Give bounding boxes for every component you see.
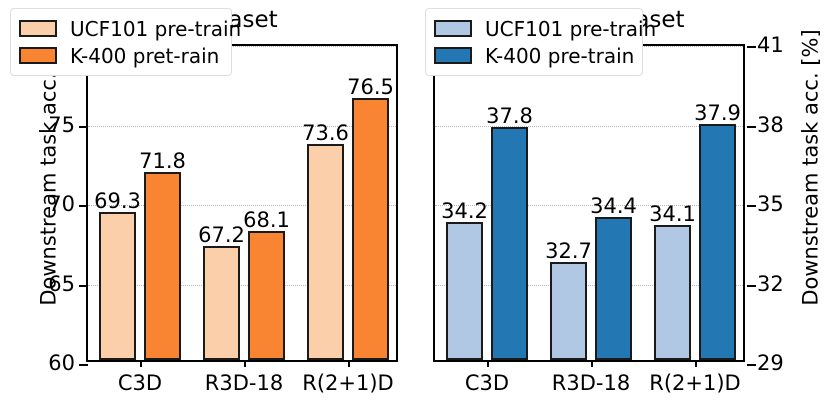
bar-value-label: 32.7 (540, 240, 597, 263)
bar-value-label: 37.8 (481, 105, 538, 128)
legend-swatch-icon (19, 20, 57, 37)
bar[interactable] (654, 225, 691, 360)
y-axis-tick-label: 38 (757, 115, 784, 136)
x-axis-tick-label: R(2+1)D (302, 371, 393, 395)
legend-label: UCF101 pre-train (70, 19, 241, 39)
y-axis-tick (747, 205, 756, 207)
chart-panel-ucf101: UCF101 dataset 6065707580C3D69.371.8R3D-… (0, 0, 415, 413)
bar[interactable] (248, 231, 285, 360)
y-axis-tick-label: 29 (757, 353, 784, 374)
y-axis-tick (747, 285, 756, 287)
plot-area-left: 6065707580C3D69.371.8R3D-1867.268.1R(2+1… (88, 46, 396, 360)
x-axis-tick-label: R(2+1)D (649, 371, 740, 395)
legend-swatch-icon (434, 47, 472, 64)
bar-value-label: 37.9 (689, 102, 746, 125)
bar-value-label: 76.5 (342, 76, 399, 99)
bar[interactable] (446, 222, 483, 360)
bar[interactable] (203, 246, 240, 360)
y-axis-tick (747, 364, 756, 366)
x-axis-tick (695, 360, 697, 367)
bar[interactable] (144, 172, 181, 360)
bar-value-label: 68.1 (238, 209, 295, 232)
bar-value-label: 34.4 (585, 195, 642, 218)
legend-item[interactable]: K-400 pre-train (434, 42, 633, 69)
y-axis-tick (747, 126, 756, 128)
x-axis-tick-label: C3D (118, 371, 162, 395)
legend-left: UCF101 pre-trainK-400 pret-rain (10, 8, 232, 76)
x-axis-tick-label: C3D (465, 371, 509, 395)
bar[interactable] (550, 262, 587, 360)
legend-label: UCF101 pre-train (485, 19, 656, 39)
y-axis-tick (79, 205, 88, 207)
y-axis-tick (79, 364, 88, 366)
plot-area-right: 2932353841C3D34.237.8R3D-1832.734.4R(2+1… (435, 46, 743, 360)
bar-value-label: 34.2 (436, 200, 493, 223)
y-axis-tick-label: 32 (757, 274, 784, 295)
x-axis-tick-label: R3D-18 (552, 371, 630, 395)
bar[interactable] (699, 124, 736, 360)
legend-item[interactable]: UCF101 pre-train (19, 15, 222, 42)
bar[interactable] (595, 217, 632, 360)
x-axis-tick (244, 360, 246, 367)
x-axis-tick (591, 360, 593, 367)
legend-label: K-400 pret-rain (70, 46, 219, 66)
legend-label: K-400 pre-train (485, 46, 634, 66)
bar[interactable] (491, 127, 528, 360)
figure-root: UCF101 dataset 6065707580C3D69.371.8R3D-… (0, 0, 830, 413)
x-axis-tick-label: R3D-18 (205, 371, 283, 395)
plot-axes-right: 2932353841C3D34.237.8R3D-1832.734.4R(2+1… (433, 44, 745, 362)
bar-value-label: 71.8 (134, 150, 191, 173)
plot-axes-left: 6065707580C3D69.371.8R3D-1867.268.1R(2+1… (86, 44, 398, 362)
bar-value-label: 34.1 (644, 203, 701, 226)
bar[interactable] (352, 98, 389, 360)
y-axis-tick-label: 41 (757, 35, 784, 56)
y-axis-label-right: Downstream task acc. [%] (801, 18, 822, 318)
legend-item[interactable]: UCF101 pre-train (434, 15, 633, 42)
x-axis-tick (487, 360, 489, 367)
x-axis-tick (348, 360, 350, 367)
y-axis-tick (79, 285, 88, 287)
bar[interactable] (99, 212, 136, 360)
legend-swatch-icon (434, 20, 472, 37)
y-axis-tick (79, 126, 88, 128)
legend-item[interactable]: K-400 pret-rain (19, 42, 222, 69)
bar[interactable] (307, 144, 344, 360)
legend-right: UCF101 pre-trainK-400 pre-train (425, 8, 643, 76)
y-axis-tick-label: 35 (757, 194, 784, 215)
legend-swatch-icon (19, 47, 57, 64)
bar-value-label: 69.3 (89, 190, 146, 213)
x-axis-tick (140, 360, 142, 367)
chart-panel-hmdb51: HMDB51 dataset 2932353841C3D34.237.8R3D-… (415, 0, 830, 413)
y-axis-tick (747, 46, 756, 48)
bar-value-label: 73.6 (297, 122, 354, 145)
y-axis-tick-label: 60 (48, 353, 75, 374)
